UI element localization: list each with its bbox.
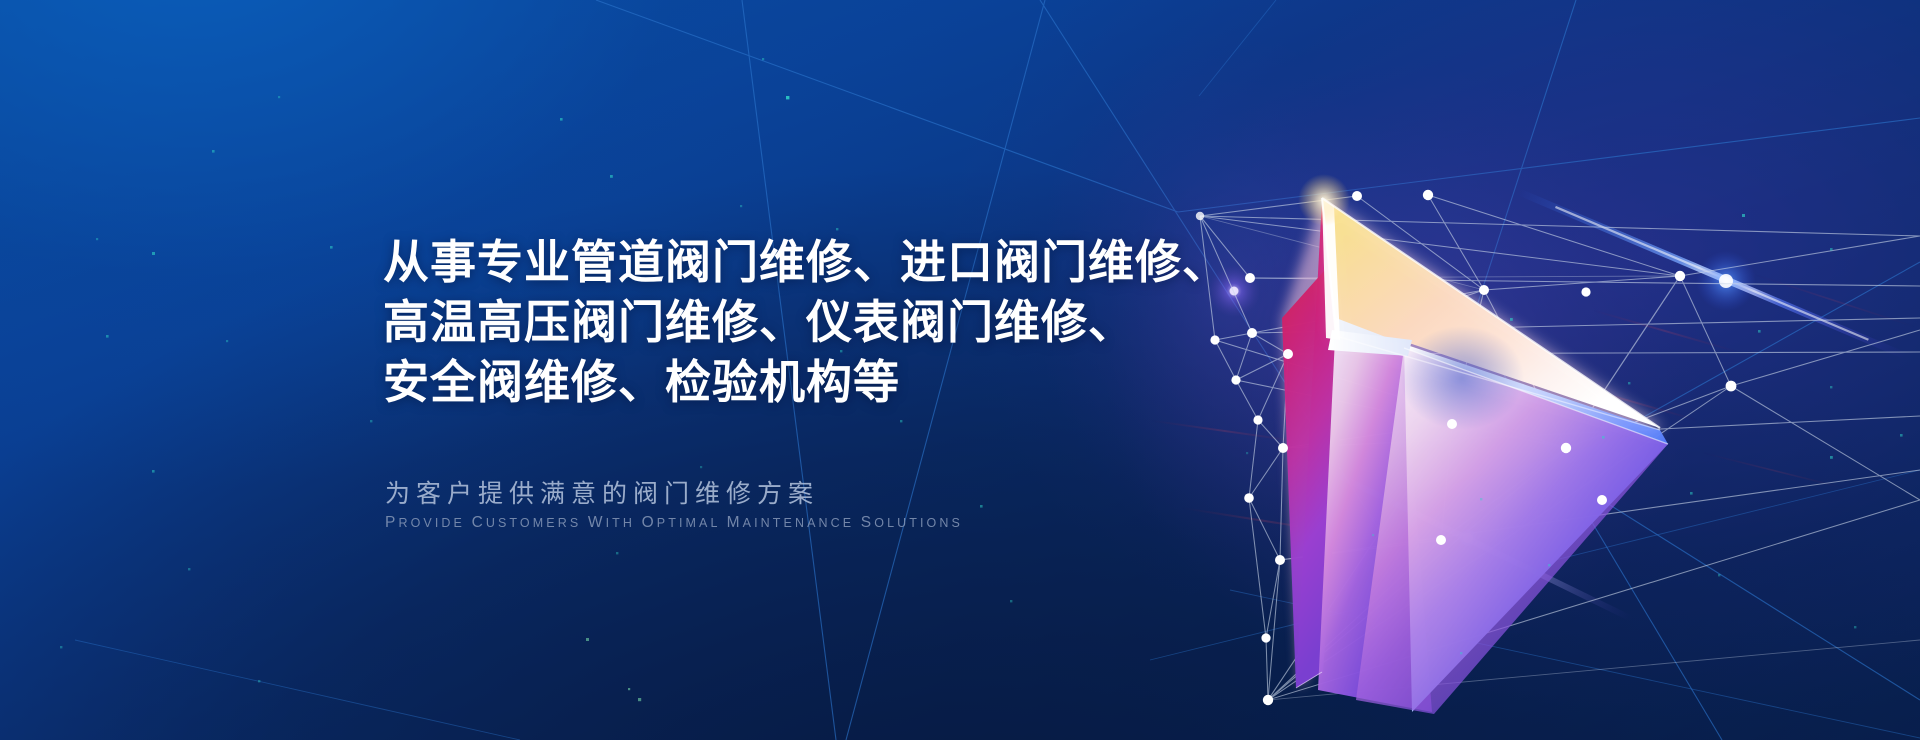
dart-ridge-fold <box>1328 330 1412 356</box>
network-node <box>1253 415 1262 424</box>
dart-ridge-vertical <box>1322 198 1340 340</box>
network-node <box>1479 285 1489 295</box>
network-node <box>1352 191 1362 201</box>
headline-line-1: 从事专业管道阀门维修、进口阀门维修、 <box>383 232 1123 292</box>
network-node <box>1283 349 1293 359</box>
subtitle-english: PROVIDE CUSTOMERS WITH OPTIMAL MAINTENAN… <box>385 514 963 532</box>
network-node <box>1263 695 1273 705</box>
network-node <box>1245 273 1255 283</box>
network-node <box>1196 212 1204 220</box>
hero-banner: 从事专业管道阀门维修、进口阀门维修、 高温高压阀门维修、仪表阀门维修、 安全阀维… <box>0 0 1920 740</box>
network-node <box>1275 555 1285 565</box>
network-node <box>1726 381 1737 392</box>
dart-ridge-main <box>1322 198 1404 344</box>
network-node <box>1581 287 1590 296</box>
dart-face-left-wide <box>1282 262 1340 688</box>
network-node <box>1597 495 1607 505</box>
dart-face-bottom-left <box>1318 332 1432 712</box>
dart-face-right <box>1404 344 1668 712</box>
network-node <box>1675 271 1685 281</box>
subtitle-block: 为客户提供满意的阀门维修方案 PROVIDE CUSTOMERS WITH OP… <box>385 477 963 532</box>
dart-face-right-lower <box>1356 348 1668 714</box>
headline-line-3: 安全阀维修、检验机构等 <box>383 352 1123 412</box>
network-node <box>1210 335 1219 344</box>
network-node <box>1231 375 1240 384</box>
network-node <box>1278 443 1288 453</box>
network-node <box>1436 535 1446 545</box>
subtitle-chinese: 为客户提供满意的阀门维修方案 <box>385 477 963 511</box>
headline-line-2: 高温高压阀门维修、仪表阀门维修、 <box>383 292 1123 352</box>
headline-block: 从事专业管道阀门维修、进口阀门维修、 高温高压阀门维修、仪表阀门维修、 安全阀维… <box>383 232 1123 412</box>
dart-face-left <box>1296 198 1335 688</box>
network-node <box>1423 190 1433 200</box>
network-node <box>1447 419 1457 429</box>
dart-face-top <box>1322 198 1660 428</box>
network-node <box>1261 633 1270 642</box>
network-node <box>1561 443 1571 453</box>
network-node <box>1247 328 1257 338</box>
network-node <box>1244 493 1254 503</box>
